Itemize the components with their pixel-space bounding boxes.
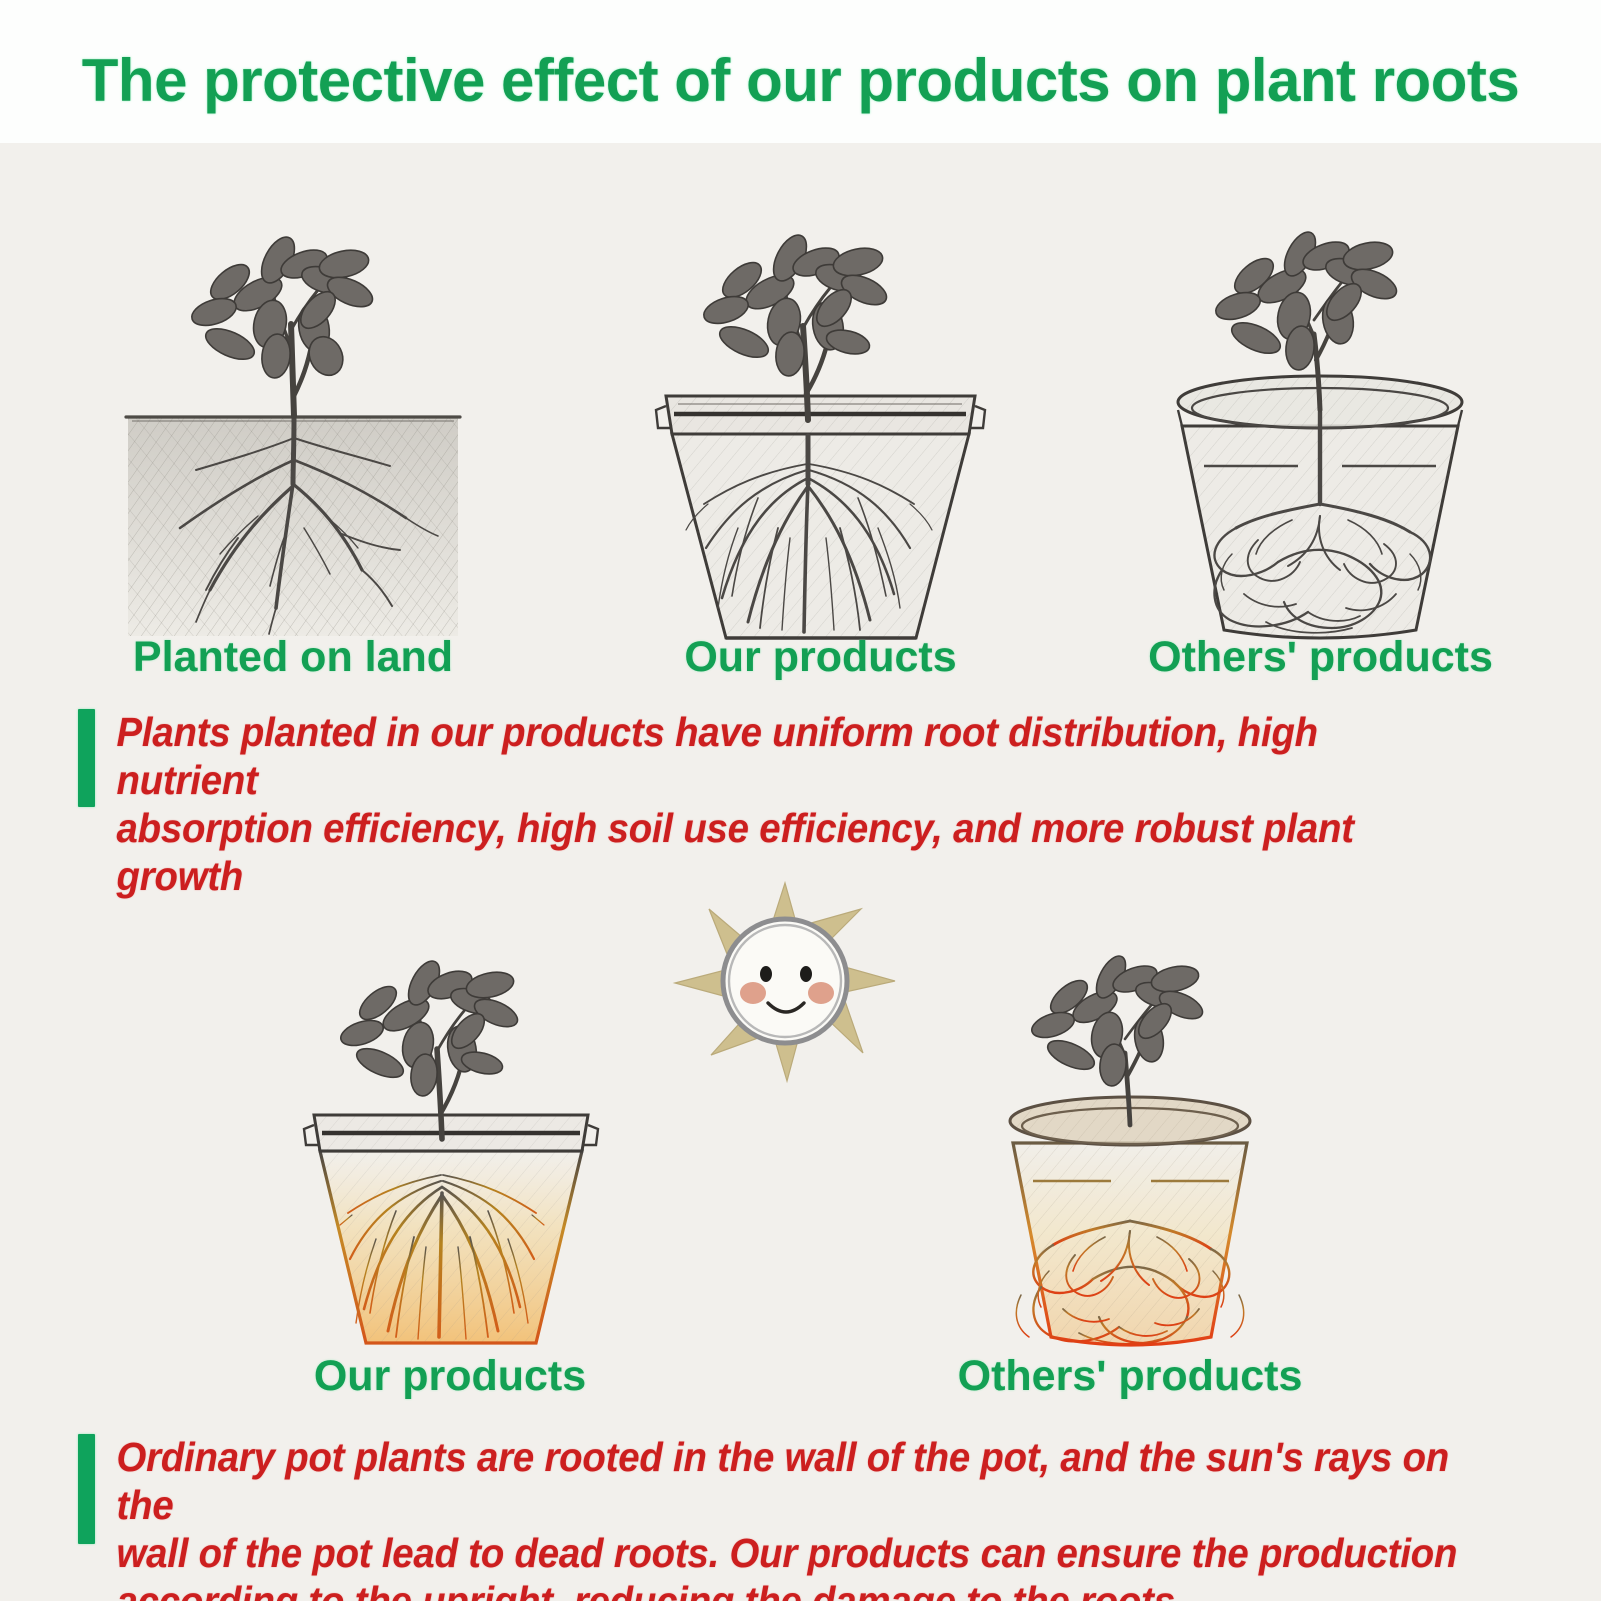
caption-others-products-bottom: Others' products <box>955 1352 1305 1401</box>
sun-face <box>723 919 847 1043</box>
infographic-page: The protective effect of our products on… <box>0 0 1601 1601</box>
caption-our-products-top: Our products <box>648 633 993 682</box>
square-pot <box>656 396 985 638</box>
plant-leaves <box>338 956 522 1097</box>
plant-leaves <box>188 232 376 381</box>
note-accent-bar-bottom <box>78 1434 95 1544</box>
plant-leaves <box>1212 227 1400 371</box>
note-bottom-text: Ordinary pot plants are rooted in the wa… <box>95 1434 1463 1579</box>
illustration-our-products-top <box>648 198 993 648</box>
sun-eye-left <box>760 966 772 982</box>
plant-leaves <box>1029 952 1207 1088</box>
note-accent-bar-top <box>78 709 95 807</box>
sun-cheek-left <box>740 982 766 1004</box>
sun-eye-right <box>800 966 812 982</box>
page-title: The protective effect of our products on… <box>0 0 1601 143</box>
note-top: Plants planted in our products have unif… <box>78 709 1548 807</box>
illustration-our-products-bottom <box>300 925 600 1350</box>
caption-our-products-bottom: Our products <box>275 1352 625 1401</box>
illustration-others-products-top <box>1148 198 1493 648</box>
square-pot-orange <box>304 1115 598 1343</box>
illustration-planted-on-land <box>118 198 468 638</box>
sun-cheek-right <box>808 982 834 1004</box>
plant-leaves <box>700 230 890 378</box>
caption-planted-on-land: Planted on land <box>118 633 468 682</box>
caption-others-products-top: Others' products <box>1148 633 1493 682</box>
note-bottom: Ordinary pot plants are rooted in the wa… <box>78 1434 1558 1579</box>
illustration-sun <box>665 875 905 1085</box>
illustration-others-products-bottom <box>985 925 1275 1350</box>
note-top-text: Plants planted in our products have unif… <box>95 709 1454 807</box>
